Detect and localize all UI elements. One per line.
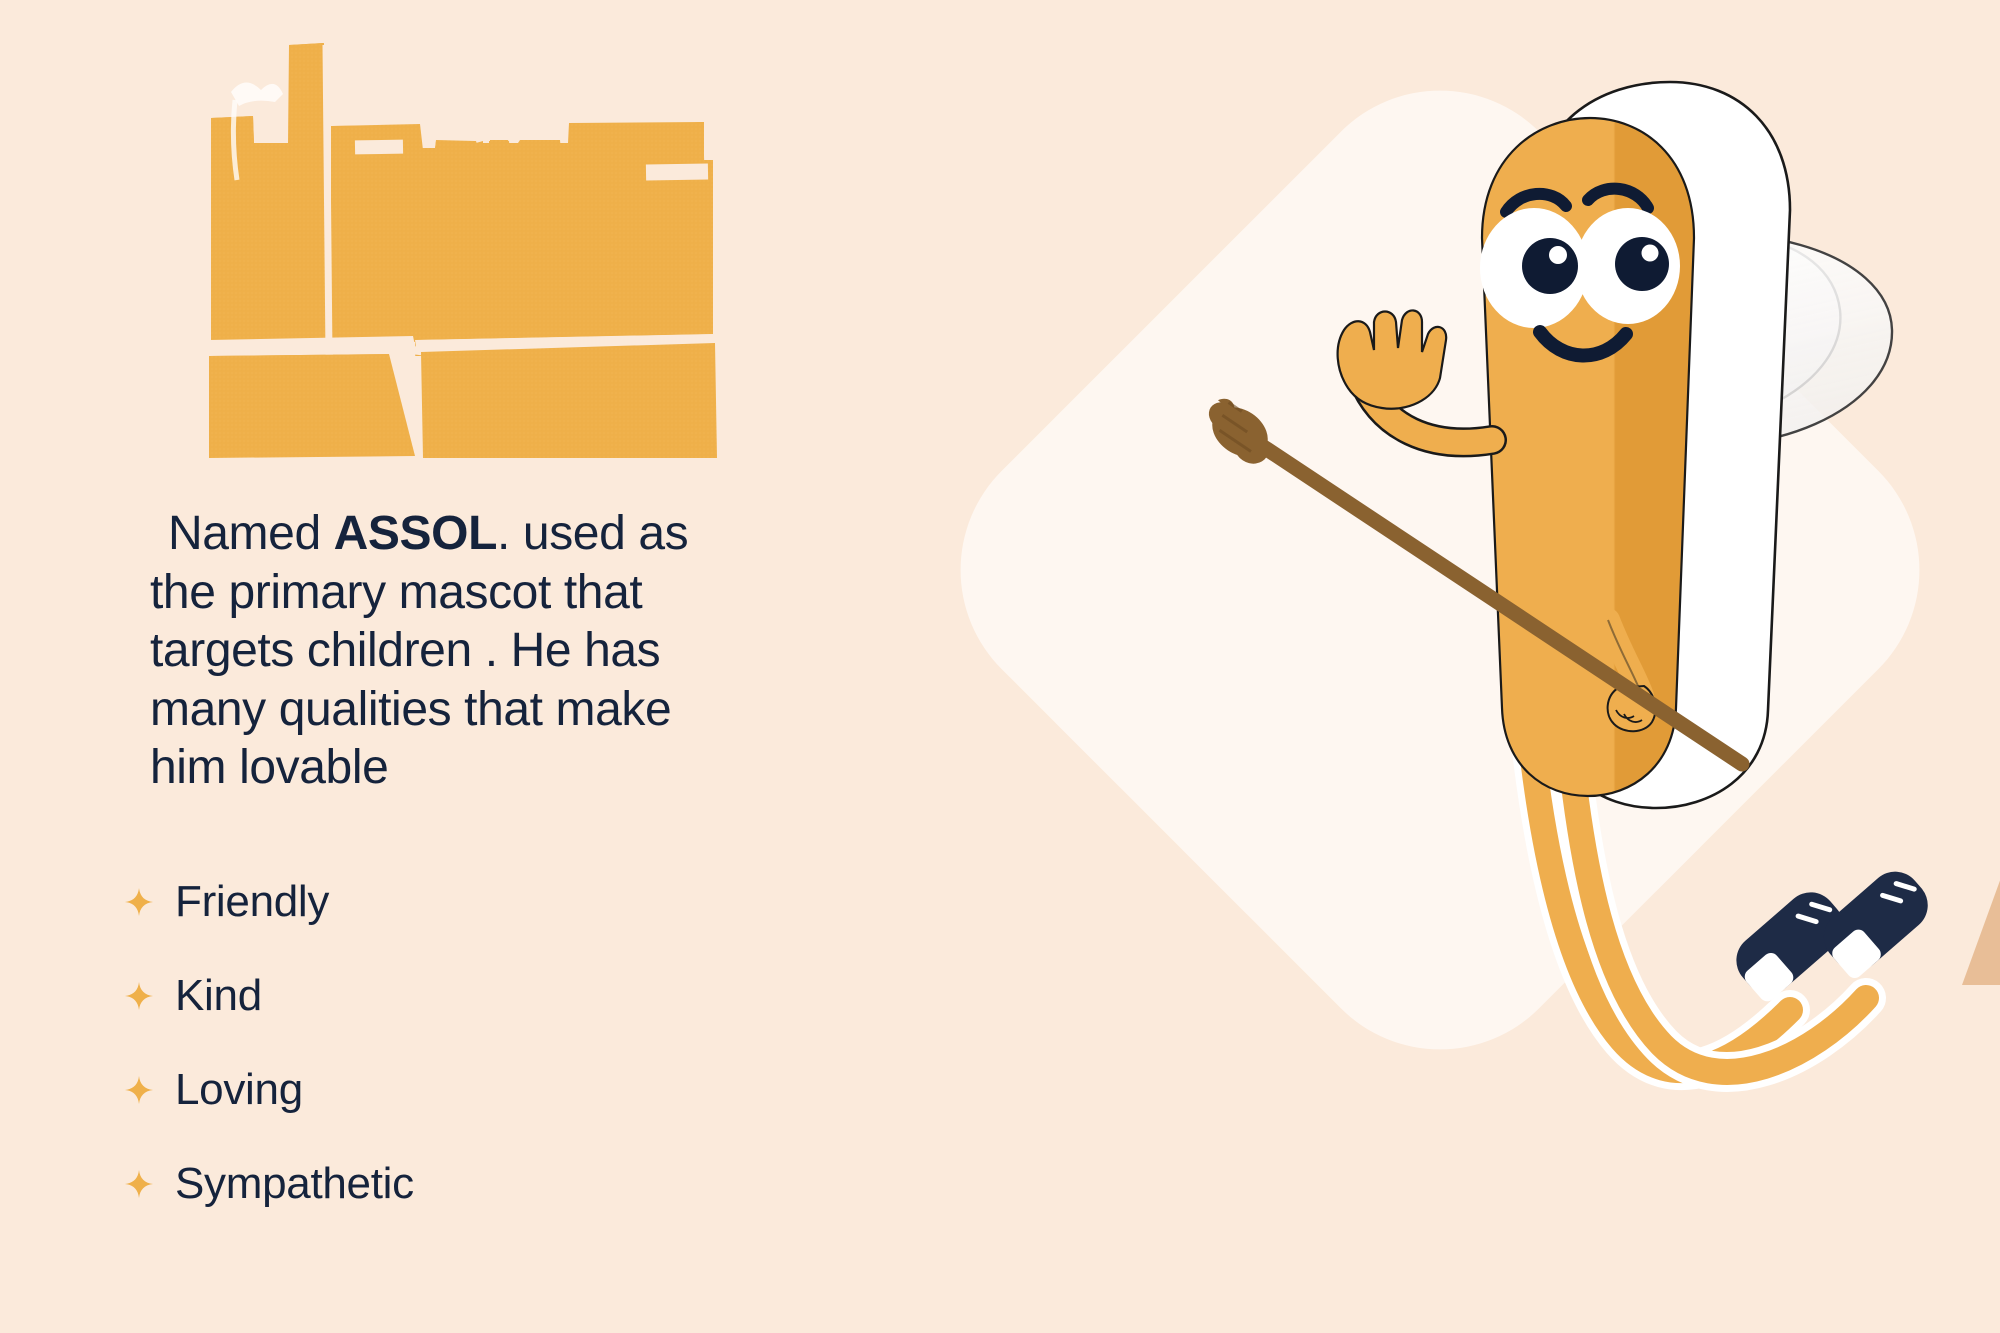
list-item[interactable]: Sympathetic xyxy=(125,1137,745,1231)
sparkle-icon xyxy=(125,1170,153,1198)
sparkle-icon xyxy=(125,982,153,1010)
castle-window-left xyxy=(355,140,403,155)
sandcastle-illustration xyxy=(183,40,733,460)
sparkle-icon xyxy=(125,888,153,916)
eye-highlight-right xyxy=(1642,245,1659,262)
pupil-left xyxy=(1522,238,1578,294)
pupil-right xyxy=(1615,237,1669,291)
castle-base-right xyxy=(421,343,717,458)
castle-divider-vertical xyxy=(326,45,329,356)
list-item[interactable]: Loving xyxy=(125,1043,745,1137)
mascot-shoes xyxy=(1726,861,1939,1005)
qualities-list: Friendly Kind Loving Sympathetic xyxy=(125,855,745,1231)
eye-highlight-left xyxy=(1549,246,1567,264)
quality-label: Loving xyxy=(175,1068,303,1112)
left-content-column: Named ASSOL. used as the primary mascot … xyxy=(0,0,820,1333)
hand-waving xyxy=(1338,310,1447,408)
castle-window-right xyxy=(646,163,708,180)
castle-right-tower xyxy=(601,122,710,356)
assol-mascot xyxy=(1270,60,2000,1333)
mascot-name: ASSOL xyxy=(334,507,497,560)
description-lead-in: Named xyxy=(168,507,334,560)
castle-wisp xyxy=(231,82,283,106)
quality-label: Sympathetic xyxy=(175,1162,414,1206)
list-item[interactable]: Kind xyxy=(125,949,745,1043)
mascot-waving-arm xyxy=(1338,310,1492,442)
list-item[interactable]: Friendly xyxy=(125,855,745,949)
mascot-description: Named ASSOL. used as the primary mascot … xyxy=(150,505,750,798)
shoe-front xyxy=(1813,861,1938,981)
castle-base-left xyxy=(209,354,415,458)
quality-label: Kind xyxy=(175,974,262,1018)
quality-label: Friendly xyxy=(175,880,329,924)
sparkle-icon xyxy=(125,1076,153,1104)
